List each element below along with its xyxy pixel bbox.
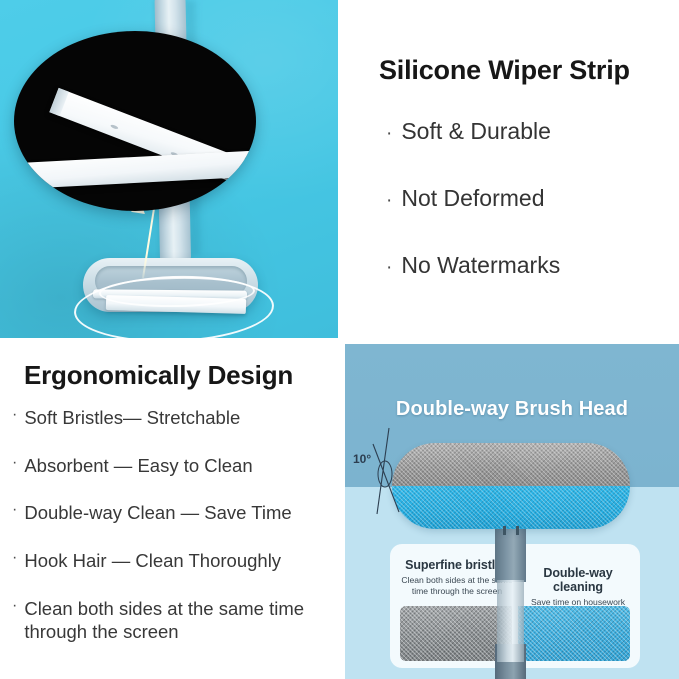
panel-brush-head-product: Double-way Brush Head 10° Superfine bris… — [345, 344, 679, 679]
list-item: · Soft & Durable — [386, 118, 666, 145]
bullet-dot: · — [12, 455, 17, 471]
angle-lines-icon — [351, 426, 421, 516]
list-item-label: Soft Bristles— Stretchable — [24, 406, 338, 430]
silicone-strip-flat — [14, 150, 256, 190]
bullet-dot: · — [386, 124, 392, 143]
bullet-dot: · — [386, 258, 392, 277]
list-item-label: Not Deformed — [401, 185, 544, 212]
list-item-label: No Watermarks — [401, 252, 560, 279]
magnifier-ellipse — [14, 31, 256, 211]
panel-ergonomic-text: Ergonomically Design · Soft Bristles— St… — [0, 346, 338, 679]
list-item-label: Clean both sides at the same time throug… — [24, 597, 338, 644]
ergonomic-heading: Ergonomically Design — [24, 360, 293, 391]
caption-double-way-cleaning: Double-way cleaning Save time on housewo… — [520, 566, 636, 608]
list-item: · Hook Hair — Clean Thoroughly — [12, 549, 338, 573]
angle-label: 10° — [353, 452, 371, 466]
strip-mark-1 — [110, 124, 119, 130]
bullet-dot: · — [12, 502, 17, 518]
list-item: · Clean both sides at the same time thro… — [12, 597, 338, 644]
panel-silicone-photo — [0, 0, 338, 338]
silicone-feature-list: · Soft & Durable · Not Deformed · No Wat… — [386, 118, 666, 319]
list-item: · Not Deformed — [386, 185, 666, 212]
infographic-page: Silicone Wiper Strip · Soft & Durable · … — [0, 0, 679, 679]
brush-head-graphic — [392, 443, 630, 529]
panel-silicone-text: Silicone Wiper Strip · Soft & Durable · … — [346, 0, 679, 338]
list-item: · Absorbent — Easy to Clean — [12, 454, 338, 478]
silicone-heading: Silicone Wiper Strip — [379, 55, 630, 86]
list-item: · Double-way Clean — Save Time — [12, 501, 338, 525]
list-item-label: Absorbent — Easy to Clean — [24, 454, 338, 478]
handle-notch-right — [516, 526, 519, 535]
bullet-dot: · — [12, 550, 17, 566]
list-item: · Soft Bristles— Stretchable — [12, 406, 338, 430]
caption-title: Double-way cleaning — [520, 566, 636, 594]
bullet-dot: · — [386, 191, 392, 210]
brush-head-heading: Double-way Brush Head — [345, 398, 679, 421]
angle-annotation: 10° — [351, 426, 421, 516]
list-item-label: Hook Hair — Clean Thoroughly — [24, 549, 338, 573]
brush-head-blue-side — [392, 486, 630, 529]
handle-upper — [495, 524, 526, 582]
list-item: · No Watermarks — [386, 252, 666, 279]
brush-head-gray-side — [392, 443, 630, 486]
ergonomic-feature-list: · Soft Bristles— Stretchable · Absorbent… — [12, 406, 338, 668]
texture-swatch-blue — [518, 606, 630, 661]
list-item-label: Soft & Durable — [401, 118, 551, 145]
bullet-dot: · — [12, 598, 17, 614]
list-item-label: Double-way Clean — Save Time — [24, 501, 338, 525]
handle-overlay-translucent — [497, 580, 524, 662]
handle-notch-left — [503, 526, 506, 535]
bullet-dot: · — [12, 407, 17, 423]
